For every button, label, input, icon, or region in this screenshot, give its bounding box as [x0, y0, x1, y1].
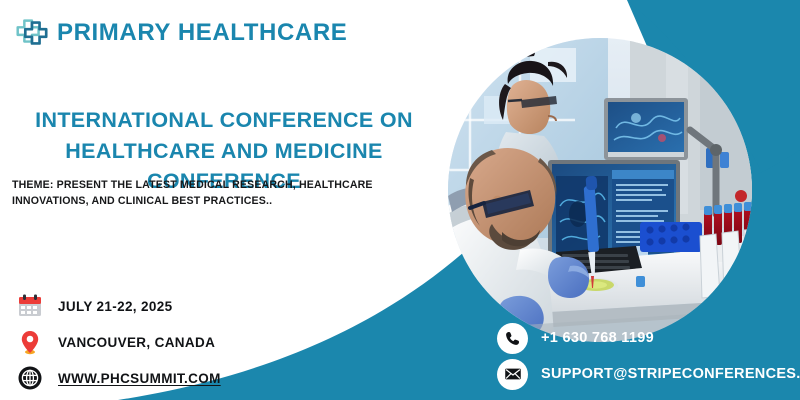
envelope-icon [504, 365, 522, 383]
detail-date-label: JULY 21-22, 2025 [58, 299, 172, 314]
detail-location: VANCOUVER, CANADA [17, 324, 221, 360]
event-details: JULY 21-22, 2025 VANCOUVER, CANADA [17, 288, 221, 396]
detail-website-label[interactable]: WWW.PHCSUMMIT.COM [58, 371, 221, 386]
detail-date: JULY 21-22, 2025 [17, 288, 221, 324]
contact-details: +1 630 768 1199 SUPPORT@STRIPECONFERENCE… [497, 320, 800, 392]
detail-website[interactable]: WWW.PHCSUMMIT.COM [17, 360, 221, 396]
contact-phone[interactable]: +1 630 768 1199 [497, 320, 800, 356]
envelope-icon-badge [497, 359, 528, 390]
phone-icon-badge [497, 323, 528, 354]
medical-cross-icon [12, 14, 50, 52]
calendar-icon [17, 293, 43, 319]
phone-icon [504, 330, 521, 347]
conference-theme: THEME: PRESENT THE LATEST MEDICAL RESEAR… [12, 177, 444, 209]
title-line-1: INTERNATIONAL CONFERENCE ON [35, 108, 413, 132]
contact-email[interactable]: SUPPORT@STRIPECONFERENCES.COM [497, 356, 800, 392]
conference-banner: PRIMARY HEALTHCARE INTERNATIONAL CONFERE… [0, 0, 800, 400]
detail-location-label: VANCOUVER, CANADA [58, 335, 215, 350]
globe-icon [17, 365, 43, 391]
brand-logo[interactable]: PRIMARY HEALTHCARE [12, 14, 347, 52]
brand-name: PRIMARY HEALTHCARE [57, 19, 347, 47]
contact-email-label[interactable]: SUPPORT@STRIPECONFERENCES.COM [541, 366, 800, 382]
location-pin-icon [17, 329, 43, 355]
contact-phone-label[interactable]: +1 630 768 1199 [541, 330, 654, 346]
